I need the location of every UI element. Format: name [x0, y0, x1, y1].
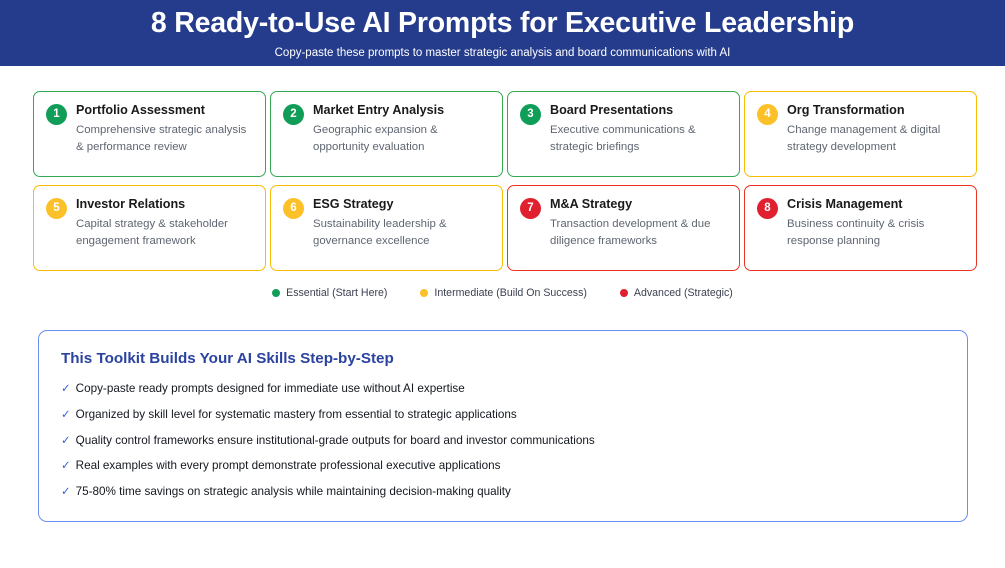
benefit-list-item: ✓Organized by skill level for systematic…: [61, 407, 945, 422]
benefit-list-item: ✓Copy-paste ready prompts designed for i…: [61, 381, 945, 396]
card-number-badge-icon: 7: [520, 198, 541, 219]
card-body: Portfolio AssessmentComprehensive strate…: [76, 103, 253, 155]
card-description: Business continuity & crisis response pl…: [787, 216, 964, 250]
benefit-list-item: ✓Quality control frameworks ensure insti…: [61, 433, 945, 448]
card-body: Investor RelationsCapital strategy & sta…: [76, 197, 253, 249]
card-title: Portfolio Assessment: [76, 103, 253, 119]
legend-dot-icon: [620, 289, 628, 297]
page-header: 8 Ready-to-Use AI Prompts for Executive …: [0, 0, 1005, 66]
page-subtitle: Copy-paste these prompts to master strat…: [275, 47, 731, 61]
card-description: Executive communications & strategic bri…: [550, 122, 727, 156]
legend-dot-icon: [420, 289, 428, 297]
benefit-text: 75-80% time savings on strategic analysi…: [76, 484, 511, 499]
prompt-card[interactable]: 7M&A StrategyTransaction development & d…: [507, 185, 740, 271]
check-icon: ✓: [61, 461, 71, 473]
card-title: Board Presentations: [550, 103, 727, 119]
difficulty-legend: Essential (Start Here)Intermediate (Buil…: [0, 287, 1005, 299]
card-title: Market Entry Analysis: [313, 103, 490, 119]
legend-label: Intermediate (Build On Success): [434, 287, 587, 299]
legend-label: Essential (Start Here): [286, 287, 387, 299]
card-description: Comprehensive strategic analysis & perfo…: [76, 122, 253, 156]
card-body: ESG StrategySustainability leadership & …: [313, 197, 490, 249]
card-number-badge-icon: 8: [757, 198, 778, 219]
prompt-card-grid: 1Portfolio AssessmentComprehensive strat…: [0, 66, 1005, 271]
card-number-badge-icon: 5: [46, 198, 67, 219]
card-title: Crisis Management: [787, 197, 964, 213]
prompt-card[interactable]: 8Crisis ManagementBusiness continuity & …: [744, 185, 977, 271]
card-description: Geographic expansion & opportunity evalu…: [313, 122, 490, 156]
benefit-list-item: ✓75-80% time savings on strategic analys…: [61, 484, 945, 499]
legend-item: Essential (Start Here): [272, 287, 387, 299]
prompt-card[interactable]: 6ESG StrategySustainability leadership &…: [270, 185, 503, 271]
prompt-card[interactable]: 2Market Entry AnalysisGeographic expansi…: [270, 91, 503, 177]
card-description: Change management & digital strategy dev…: [787, 122, 964, 156]
card-number-badge-icon: 1: [46, 104, 67, 125]
card-body: Board PresentationsExecutive communicati…: [550, 103, 727, 155]
card-description: Sustainability leadership & governance e…: [313, 216, 490, 250]
benefit-text: Organized by skill level for systematic …: [76, 407, 517, 422]
card-title: Investor Relations: [76, 197, 253, 213]
card-title: M&A Strategy: [550, 197, 727, 213]
card-number-badge-icon: 6: [283, 198, 304, 219]
page-title: 8 Ready-to-Use AI Prompts for Executive …: [151, 8, 854, 40]
card-title: Org Transformation: [787, 103, 964, 119]
legend-item: Intermediate (Build On Success): [420, 287, 587, 299]
prompt-card[interactable]: 4Org TransformationChange management & d…: [744, 91, 977, 177]
card-number-badge-icon: 3: [520, 104, 541, 125]
legend-label: Advanced (Strategic): [634, 287, 733, 299]
legend-dot-icon: [272, 289, 280, 297]
check-icon: ✓: [61, 487, 71, 499]
check-icon: ✓: [61, 410, 71, 422]
benefits-list: ✓Copy-paste ready prompts designed for i…: [61, 381, 945, 499]
prompt-card[interactable]: 1Portfolio AssessmentComprehensive strat…: [33, 91, 266, 177]
panel-title: This Toolkit Builds Your AI Skills Step-…: [61, 350, 945, 368]
check-icon: ✓: [61, 384, 71, 396]
card-description: Transaction development & due diligence …: [550, 216, 727, 250]
card-body: Org TransformationChange management & di…: [787, 103, 964, 155]
infographic-page: 8 Ready-to-Use AI Prompts for Executive …: [0, 0, 1005, 568]
card-body: Crisis ManagementBusiness continuity & c…: [787, 197, 964, 249]
card-description: Capital strategy & stakeholder engagemen…: [76, 216, 253, 250]
prompt-card[interactable]: 3Board PresentationsExecutive communicat…: [507, 91, 740, 177]
card-number-badge-icon: 2: [283, 104, 304, 125]
prompt-card[interactable]: 5Investor RelationsCapital strategy & st…: [33, 185, 266, 271]
benefit-list-item: ✓Real examples with every prompt demonst…: [61, 458, 945, 473]
benefit-text: Copy-paste ready prompts designed for im…: [76, 381, 465, 396]
card-title: ESG Strategy: [313, 197, 490, 213]
toolkit-benefits-panel: This Toolkit Builds Your AI Skills Step-…: [38, 330, 968, 522]
card-number-badge-icon: 4: [757, 104, 778, 125]
card-body: Market Entry AnalysisGeographic expansio…: [313, 103, 490, 155]
benefit-text: Quality control frameworks ensure instit…: [76, 433, 595, 448]
benefit-text: Real examples with every prompt demonstr…: [76, 458, 501, 473]
card-body: M&A StrategyTransaction development & du…: [550, 197, 727, 249]
legend-item: Advanced (Strategic): [620, 287, 733, 299]
check-icon: ✓: [61, 436, 71, 448]
